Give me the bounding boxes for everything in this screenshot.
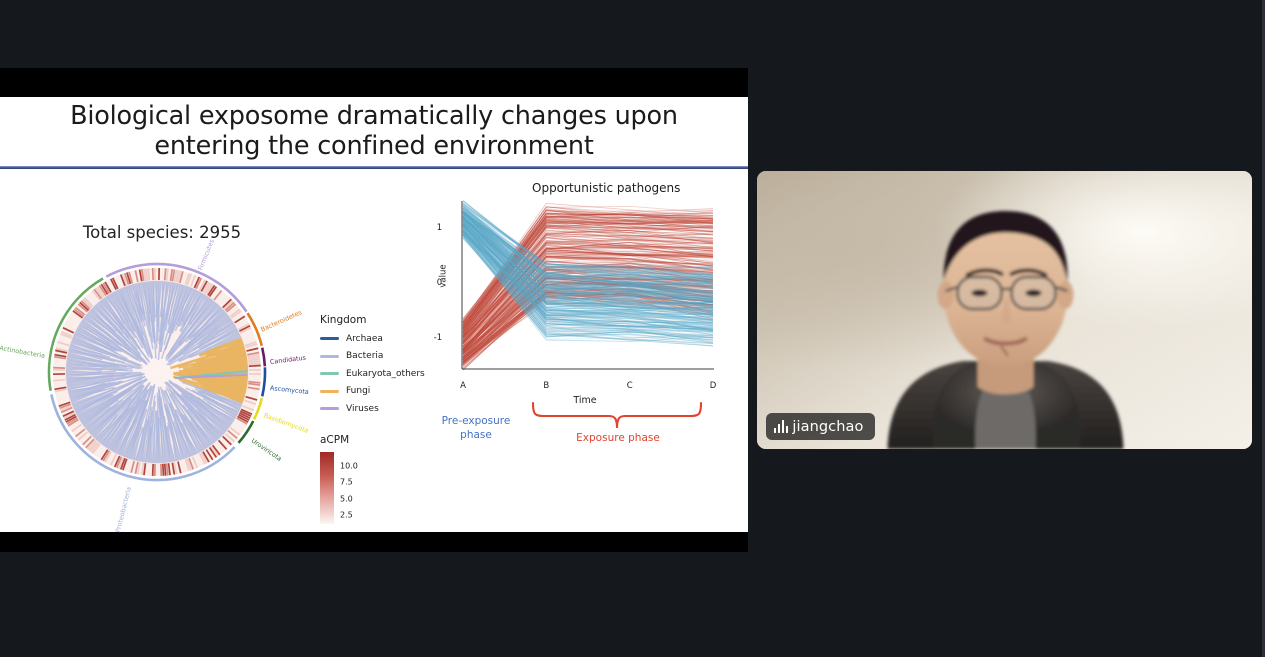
kingdom-color-swatch (320, 407, 339, 410)
kingdom-legend-item: Eukaryota_others (320, 369, 426, 379)
kingdom-legend-item: Fungi (320, 386, 426, 396)
kingdom-legend-item: Viruses (320, 404, 426, 414)
kingdom-legend-item: Bacteria (320, 351, 426, 361)
chart-x-tick-label: C (627, 381, 633, 391)
exposure-brace-icon (529, 401, 705, 431)
presentation-slide: Biological exposome dramatically changes… (0, 97, 748, 532)
chart-plot-area: value 10-1 ABCD Time (454, 199, 716, 377)
chart-x-tick-label: A (460, 381, 466, 391)
acpm-colorbar-gradient (320, 452, 334, 524)
acpm-tick-label: 7.5 (340, 478, 353, 487)
opportunistic-pathogens-chart: Opportunistic pathogens value 10-1 ABCD … (424, 177, 724, 407)
circular-tree-svg (32, 247, 282, 497)
kingdom-legend-label: Fungi (346, 386, 370, 396)
pre-exposure-phase-annotation: Pre-exposure phase (432, 414, 520, 442)
kingdom-legend-label: Bacteria (346, 351, 383, 361)
participant-video-tile[interactable]: jiangchao (757, 171, 1252, 449)
chart-y-tick-label: 0 (437, 278, 442, 288)
kingdom-legend-items: ArchaeaBacteriaEukaryota_othersFungiViru… (308, 334, 426, 414)
audio-level-bars-icon (774, 420, 788, 433)
acpm-legend-title: aCPM (320, 434, 426, 446)
participant-name-badge: jiangchao (766, 413, 875, 440)
shared-screen-region[interactable]: Biological exposome dramatically changes… (0, 68, 748, 552)
kingdom-color-swatch (320, 355, 339, 358)
phylogenetic-tree-panel: Total species: 2955 (14, 179, 310, 479)
kingdom-legend-label: Eukaryota_others (346, 369, 425, 379)
participant-name: jiangchao (792, 419, 863, 435)
kingdom-color-swatch (320, 390, 339, 393)
kingdom-color-swatch (320, 337, 339, 340)
chart-x-tick-label: D (710, 381, 717, 391)
kingdom-legend-title: Kingdom (320, 314, 426, 326)
phylum-arc (262, 348, 265, 367)
circular-tree-figure: FirmicutesBacteroidetesCandidatusAscomyc… (32, 247, 282, 497)
kingdom-legend-label: Archaea (346, 334, 383, 344)
chart-line-bundles (454, 199, 716, 377)
slide-body: Total species: 2955 (0, 169, 748, 532)
phylum-arc (262, 367, 265, 396)
exposure-phase-annotation: Exposure phase (530, 432, 706, 444)
legend-panel: Kingdom ArchaeaBacteriaEukaryota_othersF… (308, 179, 426, 499)
chart-title: Opportunistic pathogens (532, 181, 680, 195)
acpm-tick-label: 5.0 (340, 494, 353, 503)
kingdom-color-swatch (320, 372, 339, 375)
kingdom-legend-item: Archaea (320, 334, 426, 344)
total-species-label: Total species: 2955 (14, 223, 310, 242)
kingdom-legend-label: Viruses (346, 404, 379, 414)
chart-x-tick-label: B (543, 381, 549, 391)
chart-y-tick-label: -1 (434, 333, 442, 343)
participant-webcam-image (757, 171, 1252, 449)
acpm-tick-label: 10.0 (340, 461, 358, 470)
acpm-colorbar: 10.07.55.02.5 (320, 452, 410, 524)
meeting-window: Biological exposome dramatically changes… (0, 0, 1265, 657)
slide-title-band: Biological exposome dramatically changes… (0, 97, 748, 167)
chart-y-tick-label: 1 (437, 223, 442, 233)
acpm-tick-label: 2.5 (340, 511, 353, 520)
page-title: Biological exposome dramatically changes… (70, 102, 678, 161)
